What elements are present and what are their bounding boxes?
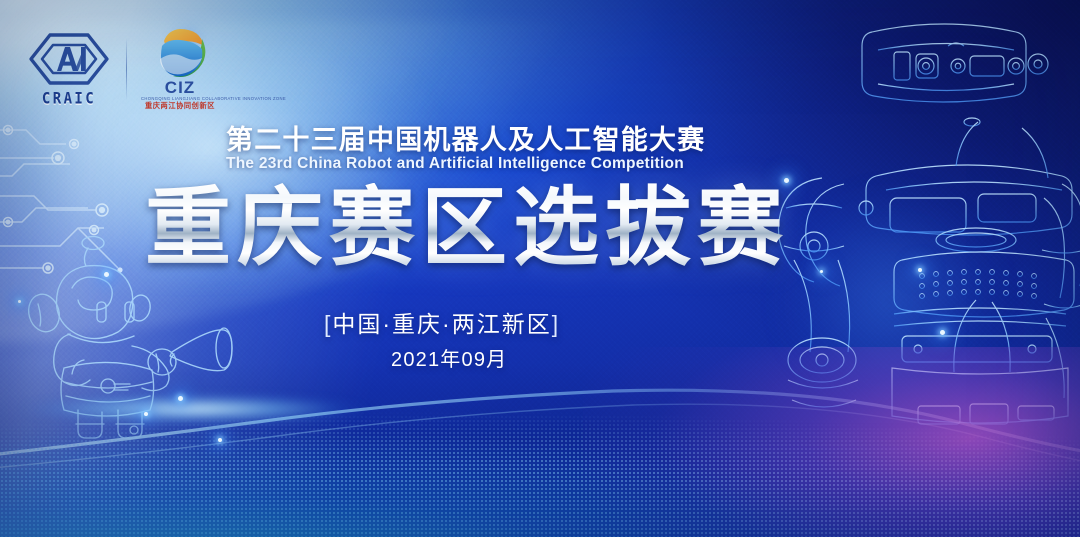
competition-title-chinese: 第二十三届中国机器人及人工智能大赛 xyxy=(226,118,705,157)
sparkle-dot xyxy=(104,272,109,277)
ciz-logo[interactable]: CIZ CHONGQING LIANGJIANG COLLABORATIVE I… xyxy=(141,26,219,111)
dotted-wave-mesh xyxy=(0,347,1080,537)
page-title: 重庆赛区选拔赛 xyxy=(145,183,789,273)
wave-tint-purple xyxy=(583,347,1080,537)
craic-wordmark: CRAIC xyxy=(26,90,112,108)
sparkle-dot xyxy=(144,412,148,416)
ciz-chinese-subtitle: 重庆两江协同创新区 xyxy=(141,101,219,111)
event-date: 2021年09月 xyxy=(391,343,507,372)
logo-lockup: CRAIC xyxy=(26,26,219,111)
location-line: [中国·重庆·两江新区] xyxy=(324,305,560,339)
sparkle-dot xyxy=(18,300,21,303)
sparkle-dot xyxy=(218,438,222,442)
sparkle-dot xyxy=(940,330,945,335)
wave-highlight xyxy=(0,391,410,427)
ciz-circular-logo-icon xyxy=(152,26,208,78)
craic-logo[interactable]: CRAIC xyxy=(26,30,112,107)
sparkle-dot xyxy=(820,270,823,273)
sparkle-dot xyxy=(178,396,183,401)
logo-divider xyxy=(126,38,127,100)
sparkle-dot xyxy=(918,268,922,272)
ciz-wordmark: CIZ xyxy=(141,79,219,96)
location-text: 中国·重庆·两江新区 xyxy=(332,311,551,337)
competition-banner: CRAIC xyxy=(0,0,1080,537)
competition-title-english: The 23rd China Robot and Artificial Inte… xyxy=(226,155,684,173)
craic-hexagon-ai-logo-icon xyxy=(26,30,112,88)
bracket-close: ] xyxy=(552,311,560,337)
